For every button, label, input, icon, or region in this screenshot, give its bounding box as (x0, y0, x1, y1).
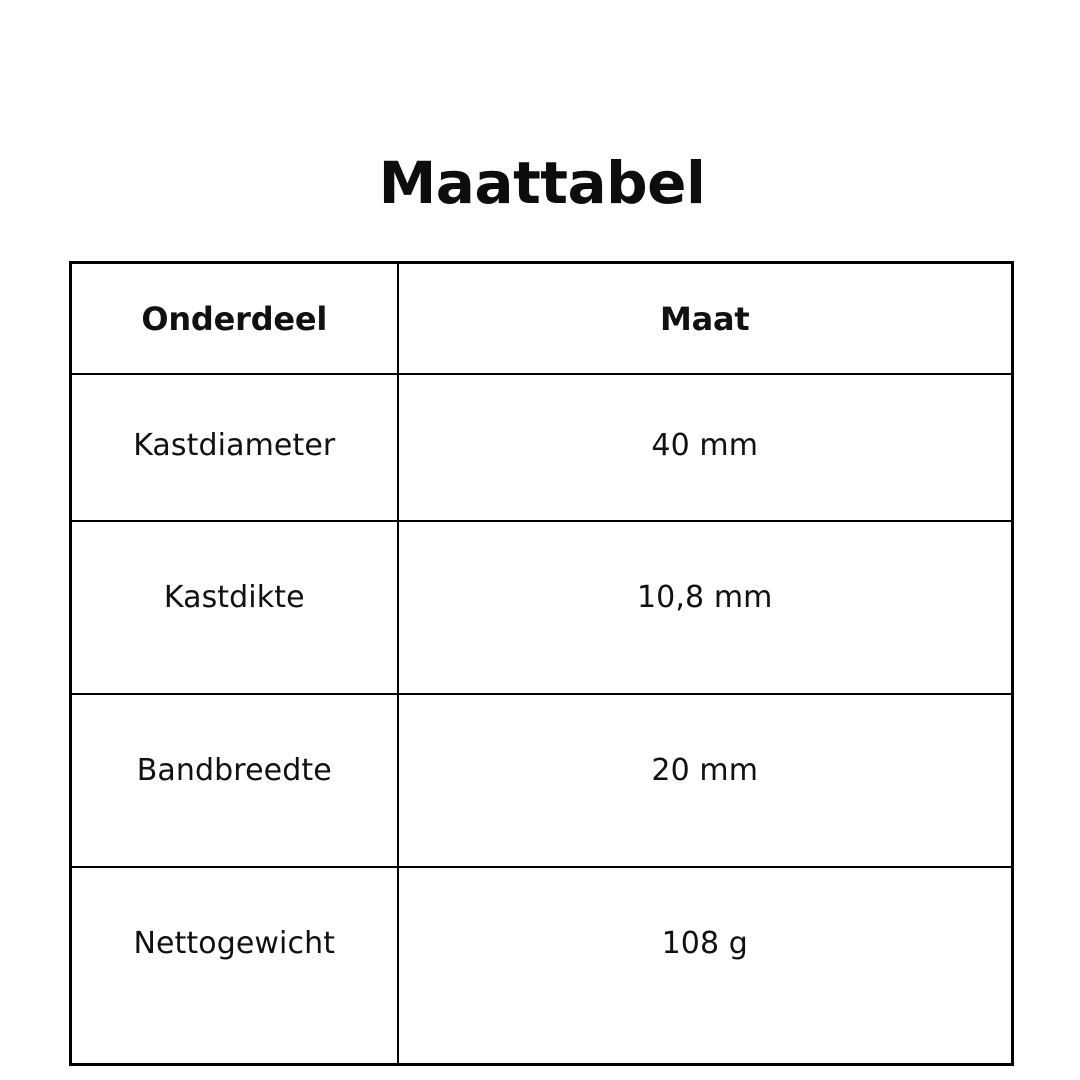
cell-part-label: Bandbreedte (72, 753, 397, 788)
cell-size: 40 mm (398, 374, 1013, 521)
table-row: Nettogewicht 108 g (71, 867, 1013, 1065)
cell-part: Nettogewicht (71, 867, 398, 1065)
cell-size: 10,8 mm (398, 521, 1013, 694)
column-header-size-label: Maat (399, 300, 1012, 338)
column-header-size: Maat (398, 263, 1013, 375)
table-header: Onderdeel Maat (71, 263, 1013, 375)
cell-part-label: Nettogewicht (72, 926, 397, 961)
column-header-part-label: Onderdeel (72, 300, 397, 338)
page-title-text: Maattabel (379, 148, 706, 218)
size-chart-page: Maattabel Onderdeel Maat Kastdiameter (0, 0, 1080, 1080)
table-row: Kastdiameter 40 mm (71, 374, 1013, 521)
cell-part: Kastdiameter (71, 374, 398, 521)
cell-size-value: 20 mm (399, 753, 1012, 788)
cell-size: 108 g (398, 867, 1013, 1065)
table-body: Kastdiameter 40 mm Kastdikte 10,8 mm Ban… (71, 374, 1013, 1065)
column-header-part: Onderdeel (71, 263, 398, 375)
cell-part-label: Kastdikte (72, 580, 397, 615)
page-title: Maattabel (0, 148, 1080, 218)
cell-size: 20 mm (398, 694, 1013, 867)
table-row: Kastdikte 10,8 mm (71, 521, 1013, 694)
cell-size-value: 10,8 mm (399, 580, 1012, 615)
cell-part: Kastdikte (71, 521, 398, 694)
size-table: Onderdeel Maat Kastdiameter 40 mm Kastdi… (69, 261, 1014, 1066)
cell-size-value: 108 g (399, 926, 1012, 961)
cell-size-value: 40 mm (399, 428, 1012, 463)
cell-part: Bandbreedte (71, 694, 398, 867)
table-header-row: Onderdeel Maat (71, 263, 1013, 375)
table-row: Bandbreedte 20 mm (71, 694, 1013, 867)
cell-part-label: Kastdiameter (72, 428, 397, 463)
